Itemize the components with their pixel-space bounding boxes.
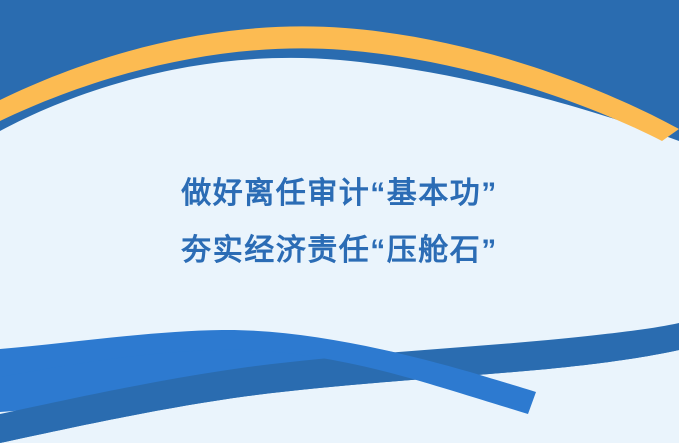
- title-line-2: 夯实经济责任“压舱石”: [181, 234, 498, 267]
- poster-banner: 做好离任审计“基本功” 夯实经济责任“压舱石”: [0, 0, 679, 443]
- title-line-1: 做好离任审计“基本功”: [181, 177, 498, 210]
- title-block: 做好离任审计“基本功” 夯实经济责任“压舱石”: [0, 0, 679, 443]
